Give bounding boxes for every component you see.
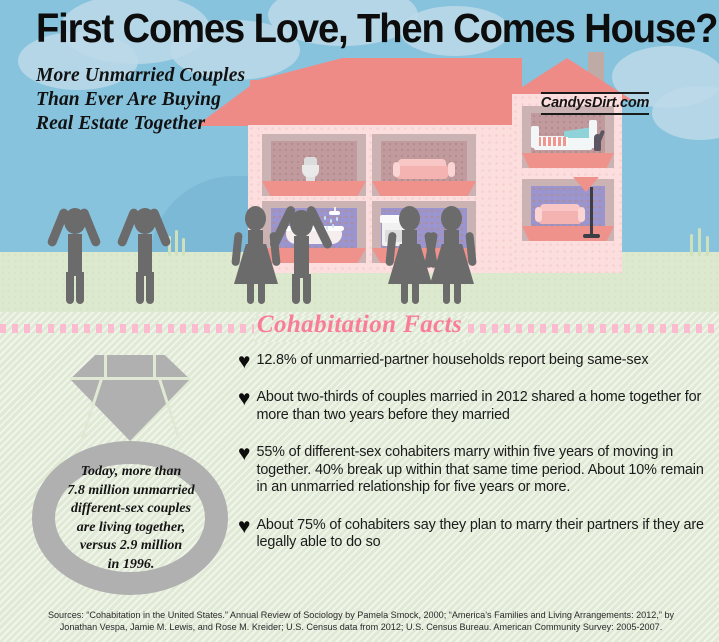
heart-bullet-icon: ♥ xyxy=(238,352,250,371)
ring-line-3: different-sex couples xyxy=(60,500,202,519)
fact-item: ♥ About two-thirds of couples married in… xyxy=(238,389,708,424)
subtitle-line-3: Real Estate Together xyxy=(36,112,336,136)
room-living-lamp xyxy=(522,179,614,241)
ring-line-2: 7.8 million unmarried xyxy=(60,482,202,501)
ring-callout-text: Today, more than 7.8 million unmarried d… xyxy=(60,463,202,574)
figure-female-pair-right xyxy=(424,200,480,304)
gem-facet xyxy=(70,377,190,380)
heart-bullet-icon: ♥ xyxy=(238,517,250,536)
fact-text: 12.8% of unmarried-partner households re… xyxy=(256,352,648,370)
ring-line-6: in 1996. xyxy=(60,556,202,575)
grass-icon xyxy=(698,228,701,256)
gem-facet xyxy=(153,355,156,379)
infographic-canvas: CandysDirt.com xyxy=(0,0,719,642)
room-bedroom xyxy=(522,106,614,168)
ring-line-1: Today, more than xyxy=(60,463,202,482)
logo-text: CandysDirt.com xyxy=(533,94,657,113)
heart-bullet-icon: ♥ xyxy=(238,389,250,408)
grass-icon xyxy=(690,234,693,256)
room-bathroom-toilet xyxy=(262,134,366,196)
ring-line-5: versus 2.9 million xyxy=(60,537,202,556)
heart-bullet-icon: ♥ xyxy=(238,444,250,463)
subtitle-line-2: Than Ever Are Buying xyxy=(36,88,336,112)
room-floor xyxy=(262,181,366,196)
grass-icon xyxy=(182,238,185,256)
subtitle-line-1: More Unmarried Couples xyxy=(36,64,336,88)
page-title: First Comes Love, Then Comes House? xyxy=(36,6,631,50)
sources-footer: Sources: “Cohabitation in the United Sta… xyxy=(16,609,706,633)
figure-male-arms-up-center xyxy=(268,196,334,304)
sofa-icon xyxy=(396,164,452,182)
diamond-gem-icon xyxy=(70,355,190,441)
logo-rule-bottom xyxy=(541,113,649,115)
fact-item: ♥ About 75% of cohabiters say they plan … xyxy=(238,517,708,552)
fact-text: About 75% of cohabiters say they plan to… xyxy=(256,517,708,552)
room-floor xyxy=(372,181,476,196)
grass-icon xyxy=(175,230,178,256)
figure-male-arms-up-left xyxy=(44,198,104,304)
grass-icon xyxy=(706,236,709,256)
cat-icon xyxy=(594,134,606,154)
ring-line-4: are living together, xyxy=(60,519,202,538)
fact-item: ♥ 55% of different-sex cohabiters marry … xyxy=(238,444,708,497)
fact-text: 55% of different-sex cohabiters marry wi… xyxy=(256,444,708,497)
page-subtitle: More Unmarried Couples Than Ever Are Buy… xyxy=(36,64,336,136)
candysdirt-logo[interactable]: CandysDirt.com xyxy=(533,92,657,115)
bed-icon xyxy=(534,136,594,154)
room-living-sofa xyxy=(372,134,476,196)
sofa-icon xyxy=(538,209,586,227)
room-floor xyxy=(522,153,614,168)
fact-text: About two-thirds of couples married in 2… xyxy=(256,389,708,424)
facts-list: ♥ 12.8% of unmarried-partner households … xyxy=(238,352,708,570)
figure-male-arms-up-right xyxy=(114,198,174,304)
sources-line-1: Sources: “Cohabitation in the United Sta… xyxy=(16,609,706,621)
fact-item: ♥ 12.8% of unmarried-partner households … xyxy=(238,352,708,371)
diamond-ring-illustration: Today, more than 7.8 million unmarried d… xyxy=(22,355,238,595)
gem-facet xyxy=(104,355,107,379)
section-title: Cohabitation Facts xyxy=(0,311,719,339)
floor-lamp-icon xyxy=(590,187,610,235)
toilet-icon xyxy=(302,157,322,182)
sources-line-2: Jonathan Vespa, Jamie M. Lewis, and Rose… xyxy=(16,621,706,633)
